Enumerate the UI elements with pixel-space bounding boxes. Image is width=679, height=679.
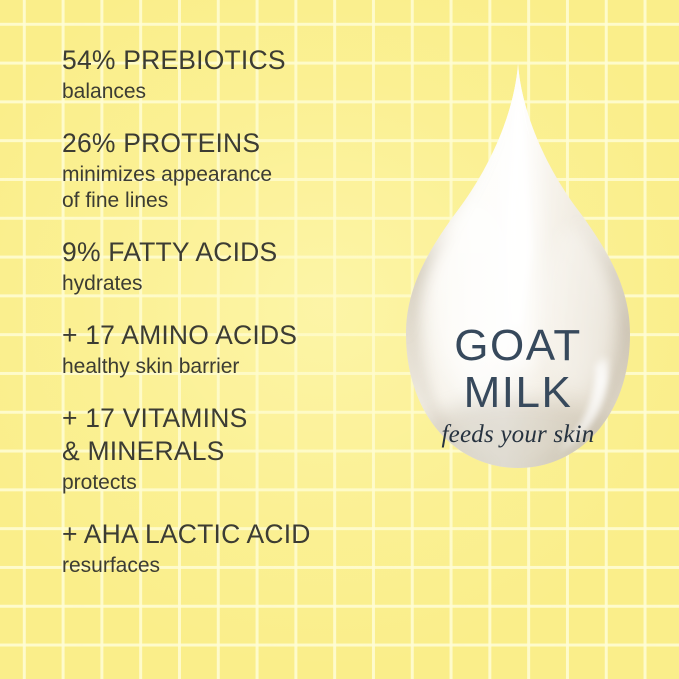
ingredient-title: 26% PROTEINS [62, 127, 392, 160]
milk-droplet-illustration [372, 58, 664, 550]
ingredient-title: + 17 AMINO ACIDS [62, 319, 392, 352]
ingredient-benefit: hydrates [62, 271, 392, 297]
ingredient-title: 9% FATTY ACIDS [62, 236, 392, 269]
ingredient-item: + 17 AMINO ACIDS healthy skin barrier [62, 319, 392, 380]
ingredient-item: + AHA LACTIC ACID resurfaces [62, 518, 392, 579]
ingredient-item: + 17 VITAMINS & MINERALS protects [62, 402, 392, 496]
ingredient-benefit: minimizes appearance of fine lines [62, 162, 392, 214]
ingredient-item: 54% PREBIOTICS balances [62, 44, 392, 105]
ingredient-benefit: resurfaces [62, 553, 392, 579]
product-infographic: GOAT MILK feeds your skin 54% PREBIOTICS… [0, 0, 679, 679]
ingredient-title: 54% PREBIOTICS [62, 44, 392, 77]
ingredient-benefit-list: 54% PREBIOTICS balances 26% PROTEINS min… [62, 44, 392, 579]
milk-droplet-icon [372, 58, 664, 550]
ingredient-item: 26% PROTEINS minimizes appearance of fin… [62, 127, 392, 214]
ingredient-title: + AHA LACTIC ACID [62, 518, 392, 551]
droplet-shading [372, 58, 664, 550]
ingredient-benefit: protects [62, 470, 392, 496]
ingredient-benefit: balances [62, 79, 392, 105]
ingredient-item: 9% FATTY ACIDS hydrates [62, 236, 392, 297]
ingredient-benefit: healthy skin barrier [62, 354, 392, 380]
ingredient-title: + 17 VITAMINS & MINERALS [62, 402, 392, 468]
